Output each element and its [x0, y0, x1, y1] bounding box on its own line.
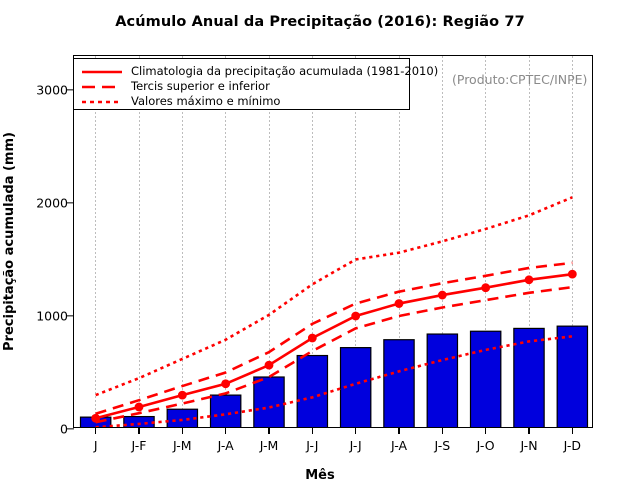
y-tick-label: 3000: [36, 82, 68, 97]
legend-key-solid-icon: [81, 66, 123, 78]
y-tick-label: 2000: [36, 195, 68, 210]
legend: Climatologia da precipitação acumulada (…: [73, 58, 410, 110]
x-tick-mark: [225, 427, 226, 434]
y-tick-label: 1000: [36, 308, 68, 323]
x-tick-mark: [182, 427, 183, 434]
series-marker: [395, 299, 404, 308]
x-tick-mark: [442, 427, 443, 434]
y-axis-title-text: Precipitação acumulada (mm): [2, 132, 17, 351]
chart-title: Acúmulo Anual da Precipitação (2016): Re…: [0, 14, 640, 30]
x-tick-label: J: [94, 438, 98, 453]
legend-key-dotted-icon: [81, 96, 123, 108]
x-tick-mark: [312, 427, 313, 434]
series-line: [96, 336, 573, 427]
y-tick-mark: [67, 428, 74, 429]
x-tick-label: J-D: [564, 438, 581, 453]
x-tick-mark: [572, 427, 573, 434]
x-tick-label: J-J: [350, 438, 362, 453]
y-axis-title: Precipitação acumulada (mm): [0, 55, 20, 428]
series-marker: [438, 291, 447, 300]
series-marker: [568, 270, 577, 279]
x-tick-label: J-M: [260, 438, 279, 453]
x-tick-label: J-A: [218, 438, 234, 453]
product-credit: (Produto:CPTEC/INPE): [452, 72, 587, 87]
legend-item: Tercis superior e inferior: [81, 79, 402, 94]
series-marker: [135, 403, 144, 412]
x-tick-mark: [355, 427, 356, 434]
plot-inner: [74, 56, 592, 427]
legend-label-extremes: Valores máximo e mínimo: [131, 96, 280, 108]
series-marker: [221, 379, 230, 388]
x-tick-mark: [528, 427, 529, 434]
legend-label-terciles: Tercis superior e inferior: [131, 81, 270, 93]
climatology-lines-layer: [74, 56, 592, 427]
x-tick-label: J-A: [391, 438, 407, 453]
series-marker: [308, 334, 317, 343]
precipitation-chart: Acúmulo Anual da Precipitação (2016): Re…: [0, 0, 640, 500]
x-tick-label: J-J: [306, 438, 318, 453]
legend-label-climatology: Climatologia da precipitação acumulada (…: [131, 66, 438, 78]
plot-area: 0100020003000 JJ-FJ-MJ-AJ-MJ-JJ-JJ-AJ-SJ…: [73, 55, 593, 428]
legend-item: Climatologia da precipitação acumulada (…: [81, 64, 402, 79]
legend-key-dashed-icon: [81, 81, 123, 93]
x-tick-label: J-O: [477, 438, 495, 453]
x-tick-mark: [398, 427, 399, 434]
series-marker: [351, 312, 360, 321]
x-tick-label: J-S: [434, 438, 450, 453]
x-tick-mark: [95, 427, 96, 434]
series-line: [96, 197, 573, 395]
x-tick-mark: [268, 427, 269, 434]
series-marker: [481, 283, 490, 292]
legend-item: Valores máximo e mínimo: [81, 94, 402, 109]
y-tick-label: 0: [60, 422, 68, 437]
x-axis-title: Mês: [0, 468, 640, 483]
series-marker: [265, 361, 274, 370]
series-line: [96, 287, 573, 422]
x-tick-mark: [138, 427, 139, 434]
series-marker: [178, 391, 187, 400]
series-marker: [525, 275, 534, 284]
x-tick-label: J-F: [132, 438, 147, 453]
x-tick-label: J-N: [520, 438, 537, 453]
x-tick-mark: [485, 427, 486, 434]
x-tick-label: J-M: [173, 438, 192, 453]
